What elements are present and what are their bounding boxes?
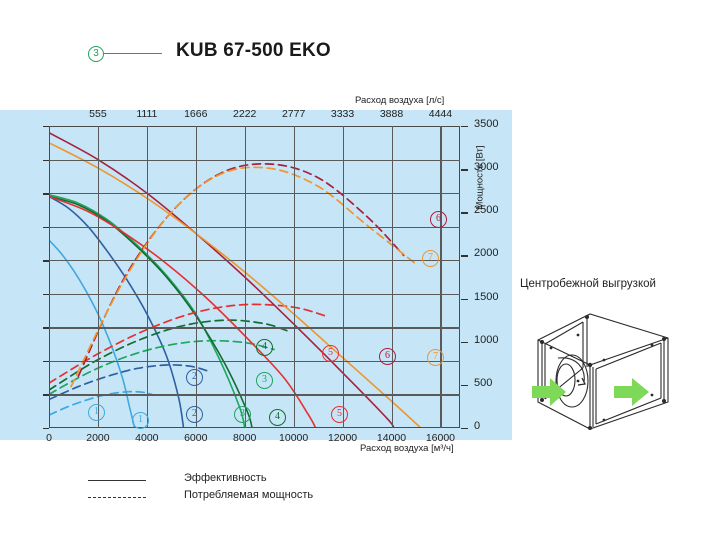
plot-area [49, 126, 460, 428]
x-axis-top-title: Расход воздуха [л/c] [355, 95, 444, 106]
plot-frame [49, 126, 460, 428]
page-title: KUB 67-500 EKO [176, 40, 331, 62]
gridline-horizontal [49, 260, 460, 261]
x-axis-top-tick: 3888 [369, 108, 415, 120]
gridline-horizontal [49, 361, 460, 362]
gridline-vertical [98, 126, 99, 428]
y-axis-right-tick: 3000 [474, 161, 514, 173]
gridline-vertical [245, 126, 246, 428]
curve-marker-7: 7 [422, 250, 439, 267]
x-axis-bottom-tick: 10000 [271, 432, 317, 444]
legend-solid-line-icon [88, 480, 146, 481]
y-axis-right-tick: 500 [474, 377, 514, 389]
fan-caption: Центробежной выгрузкой [520, 278, 656, 290]
y-axis-right-tick: 3500 [474, 118, 514, 130]
x-axis-bottom-tick: 16000 [417, 432, 463, 444]
title-curve-marker-icon: 3 [88, 46, 104, 62]
gridline-horizontal [49, 193, 460, 194]
x-axis-bottom-tick: 0 [26, 432, 72, 444]
x-axis-bottom-title: Расход воздуха [м³/ч] [360, 443, 454, 454]
y-axis-left-tickmark [43, 428, 49, 429]
curve-marker-6: 6 [379, 348, 396, 365]
legend-row-power: Потребляемая мощность [88, 489, 388, 506]
gridline-vertical [147, 126, 148, 428]
x-axis-top-tick: 555 [75, 108, 121, 120]
x-axis-top-tick: 2777 [271, 108, 317, 120]
curve-marker-1: 1 [88, 404, 105, 421]
y-axis-right-tickmark [461, 255, 468, 256]
gridline-vertical [392, 126, 393, 428]
gridline-vertical [294, 126, 295, 428]
gridline-horizontal [49, 227, 460, 228]
legend-row-efficiency: Эффективность [88, 472, 388, 489]
x-axis-bottom-tick: 8000 [222, 432, 268, 444]
curve-marker-3: 3 [234, 406, 251, 423]
x-axis-top-tick: 1666 [173, 108, 219, 120]
curve-marker-2: 2 [186, 369, 203, 386]
x-axis-bottom-tick: 2000 [75, 432, 121, 444]
y-axis-right-tickmark [461, 299, 468, 300]
curve-marker-5: 5 [331, 406, 348, 423]
gridline-horizontal [49, 294, 460, 295]
x-axis-top-tick: 3333 [320, 108, 366, 120]
title-underline [104, 53, 162, 54]
y-axis-right-tickmark [461, 212, 468, 213]
x-axis-top-tick: 2222 [222, 108, 268, 120]
y-axis-right-tickmark [461, 342, 468, 343]
y-axis-right-tickmark [461, 169, 468, 170]
gridline-vertical [343, 126, 344, 428]
y-axis-right-tickmark [461, 126, 468, 127]
x-axis-bottom-tick: 6000 [173, 432, 219, 444]
y-axis-right-tick: 2500 [474, 204, 514, 216]
x-axis-bottom-tick: 14000 [369, 432, 415, 444]
y-axis-right-tick: 1000 [474, 334, 514, 346]
y-axis-right-tickmark [461, 385, 468, 386]
chart-legend: Эффективность Потребляемая мощность [88, 472, 388, 508]
curve-marker-4: 4 [269, 409, 286, 426]
legend-label-power: Потребляемая мощность [184, 489, 313, 501]
fan-illustration-block: Центробежной выгрузкой [518, 278, 708, 438]
fan-unit-diagram-icon [518, 298, 708, 433]
x-axis-bottom-tick: 4000 [124, 432, 170, 444]
y-axis-right-tick: 1500 [474, 291, 514, 303]
gridline-vertical [440, 126, 441, 428]
gridline-horizontal [49, 160, 460, 161]
legend-label-efficiency: Эффективность [184, 472, 267, 484]
gridline-horizontal [49, 394, 460, 395]
legend-dashed-line-icon [88, 497, 146, 498]
curve-marker-2: 2 [186, 406, 203, 423]
curve-marker-5: 5 [322, 345, 339, 362]
chart-title-row: 3 KUB 67-500 EKO [88, 40, 418, 70]
y-axis-right-tickmark [461, 428, 468, 429]
x-axis-top-tick: 4444 [417, 108, 463, 120]
x-axis-top-tick: 1111 [124, 108, 170, 120]
curve-marker-1: 1 [132, 412, 149, 429]
y-axis-right-tick: 2000 [474, 247, 514, 259]
curve-marker-7: 7 [427, 349, 444, 366]
gridline-horizontal [49, 327, 460, 328]
y-axis-right-tick: 0 [474, 420, 514, 432]
curve-marker-6: 6 [430, 211, 447, 228]
x-axis-bottom-tick: 12000 [320, 432, 366, 444]
curve-marker-3: 3 [256, 372, 273, 389]
curve-marker-4: 4 [256, 339, 273, 356]
